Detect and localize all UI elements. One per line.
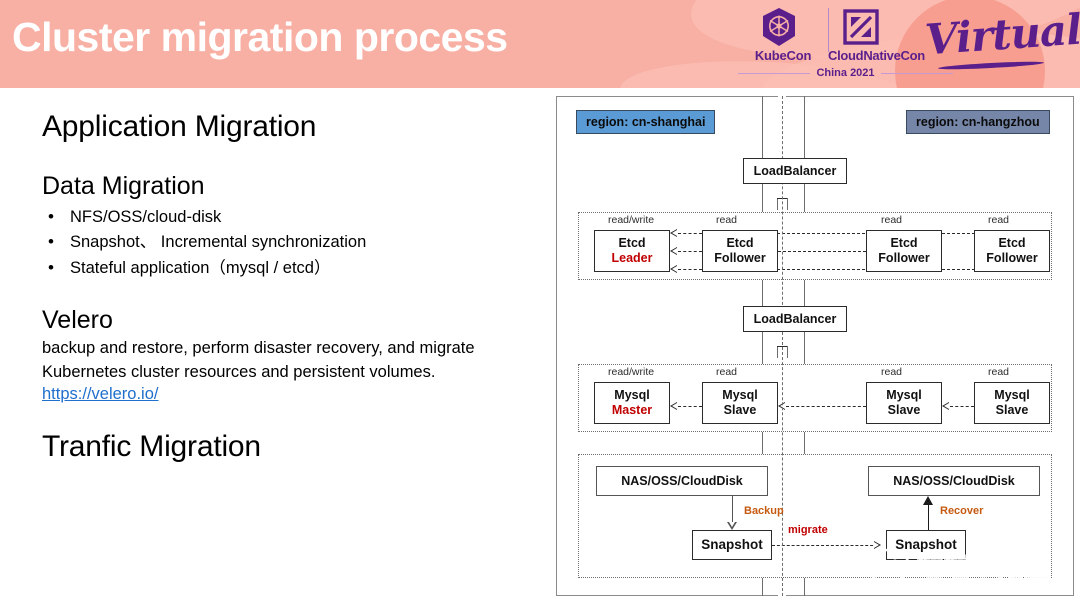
etcd-arrow-mid-seg (678, 251, 702, 252)
node-name: Mysql (722, 388, 757, 403)
node-etcd-follower-2: Etcd Follower (866, 230, 942, 272)
notch-lb2-a (777, 346, 778, 358)
recover-line (928, 505, 929, 531)
data-migration-bullets: NFS/OSS/cloud-disk Snapshot、 Incremental… (42, 205, 542, 282)
rail-low-right (804, 432, 805, 454)
heading-data-migration: Data Migration (42, 171, 542, 201)
recover-arrowhead (923, 496, 933, 505)
event-label-row: China 2021 (738, 67, 953, 79)
node-role: Master (612, 403, 652, 418)
rail-lb1-left (762, 184, 763, 212)
rail-top-right (804, 96, 805, 158)
event-logo-lockup: KubeCon CloudNativeCon China 2021 (742, 4, 922, 84)
node-label: Snapshot (701, 537, 763, 553)
node-name: Etcd (998, 236, 1025, 251)
node-mysql-master: Mysql Master (594, 382, 670, 424)
flow-label-backup: Backup (744, 505, 784, 517)
list-item: NFS/OSS/cloud-disk (42, 205, 542, 231)
mysql-arrowhead-3 (942, 402, 949, 410)
etcd-arrowhead-mid (670, 247, 677, 255)
rail-mid-left (762, 280, 763, 306)
rail-top-left (762, 96, 763, 158)
rail-mid-right (804, 280, 805, 306)
rail-lb1-right (804, 184, 805, 212)
migrate-line (772, 545, 878, 546)
migrate-arrowhead (874, 541, 881, 549)
node-mysql-slave-2: Mysql Slave (866, 382, 942, 424)
node-mysql-slave-3: Mysql Slave (974, 382, 1050, 424)
mysql-arrow-seg-1 (678, 406, 702, 407)
backup-arrowhead (727, 522, 737, 530)
flow-label-recover: Recover (940, 505, 983, 517)
node-disk-shanghai: NAS/OSS/CloudDisk (596, 466, 768, 496)
node-name: Etcd (890, 236, 917, 251)
load-balancer-etcd: LoadBalancer (743, 158, 847, 184)
heading-traffic-migration: Tranfic Migration (42, 430, 542, 465)
list-item: Snapshot、 Incremental synchronization (42, 230, 542, 256)
etcd-arrow-mid-long (778, 251, 866, 252)
kubecon-wordmark: KubeCon (742, 48, 824, 63)
etcd-access-label-3: read (988, 214, 1009, 226)
mysql-arrowhead-1 (670, 402, 677, 410)
slide-header-banner: Cluster migration process (0, 0, 1080, 88)
node-name: Mysql (886, 388, 921, 403)
node-snapshot-hangzhou: Snapshot (886, 530, 966, 560)
logo-divider (828, 8, 829, 52)
rule-right (881, 73, 953, 74)
heading-application-migration: Application Migration (42, 110, 542, 145)
node-name: Mysql (614, 388, 649, 403)
rule-left (738, 73, 810, 74)
node-etcd-leader: Etcd Leader (594, 230, 670, 272)
backup-line (732, 496, 733, 522)
etcd-access-label-1: read (716, 214, 737, 226)
node-mysql-slave-1: Mysql Slave (702, 382, 778, 424)
node-label: NAS/OSS/CloudDisk (893, 474, 1015, 489)
etcd-arrowhead-top (670, 229, 677, 237)
kubernetes-helm-icon (758, 6, 800, 53)
node-name: Etcd (726, 236, 753, 251)
mysql-access-label-0: read/write (608, 366, 654, 378)
node-etcd-follower-3: Etcd Follower (974, 230, 1050, 272)
node-name: Etcd (618, 236, 645, 251)
node-role: Follower (986, 251, 1037, 266)
load-balancer-mysql: LoadBalancer (743, 306, 847, 332)
mysql-access-label-3: read (988, 366, 1009, 378)
mysql-arrow-seg-2 (786, 406, 866, 407)
mysql-access-label-2: read (881, 366, 902, 378)
etcd-access-label-2: read (881, 214, 902, 226)
etcd-arrow-bot-seg (678, 269, 702, 270)
etcd-access-label-0: read/write (608, 214, 654, 226)
node-role: Slave (724, 403, 757, 418)
rail-lb2-left (762, 332, 763, 364)
architecture-diagram: region: cn-shanghai region: cn-hangzhou … (556, 96, 1074, 596)
node-disk-hangzhou: NAS/OSS/CloudDisk (868, 466, 1040, 496)
velero-website-link[interactable]: https://velero.io/ (42, 385, 158, 404)
list-item: Stateful application（mysql / etcd） (42, 256, 542, 282)
velero-description: backup and restore, perform disaster rec… (42, 337, 532, 384)
etcd-arrow-top-seg (678, 233, 702, 234)
node-role: Follower (878, 251, 929, 266)
rail-bottom-left (762, 578, 763, 596)
rail-bottom-right (804, 578, 805, 596)
node-role: Slave (996, 403, 1029, 418)
notch-lb1-a (777, 198, 778, 210)
event-label: China 2021 (816, 67, 874, 79)
etcd-arrowhead-bot (670, 265, 677, 273)
node-name: Mysql (994, 388, 1029, 403)
mysql-access-label-1: read (716, 366, 737, 378)
notch-lb2-b (787, 346, 788, 358)
node-role: Follower (714, 251, 765, 266)
notch-lb1-b (787, 198, 788, 210)
region-badge-shanghai: region: cn-shanghai (576, 110, 715, 134)
rail-low-left (762, 432, 763, 454)
node-label: NAS/OSS/CloudDisk (621, 474, 743, 489)
cloudnativecon-square-icon (842, 8, 880, 51)
node-role: Slave (888, 403, 921, 418)
node-label: Snapshot (895, 537, 957, 553)
slide-body-left: Application Migration Data Migration NFS… (42, 110, 542, 465)
node-snapshot-shanghai: Snapshot (692, 530, 772, 560)
region-badge-hangzhou: region: cn-hangzhou (906, 110, 1050, 134)
rail-lb2-right (804, 332, 805, 364)
mysql-arrow-seg-3 (950, 406, 974, 407)
node-etcd-follower-1: Etcd Follower (702, 230, 778, 272)
heading-velero: Velero (42, 305, 542, 335)
node-role: Leader (612, 251, 653, 266)
flow-label-migrate: migrate (788, 524, 828, 536)
page-title: Cluster migration process (12, 14, 508, 61)
